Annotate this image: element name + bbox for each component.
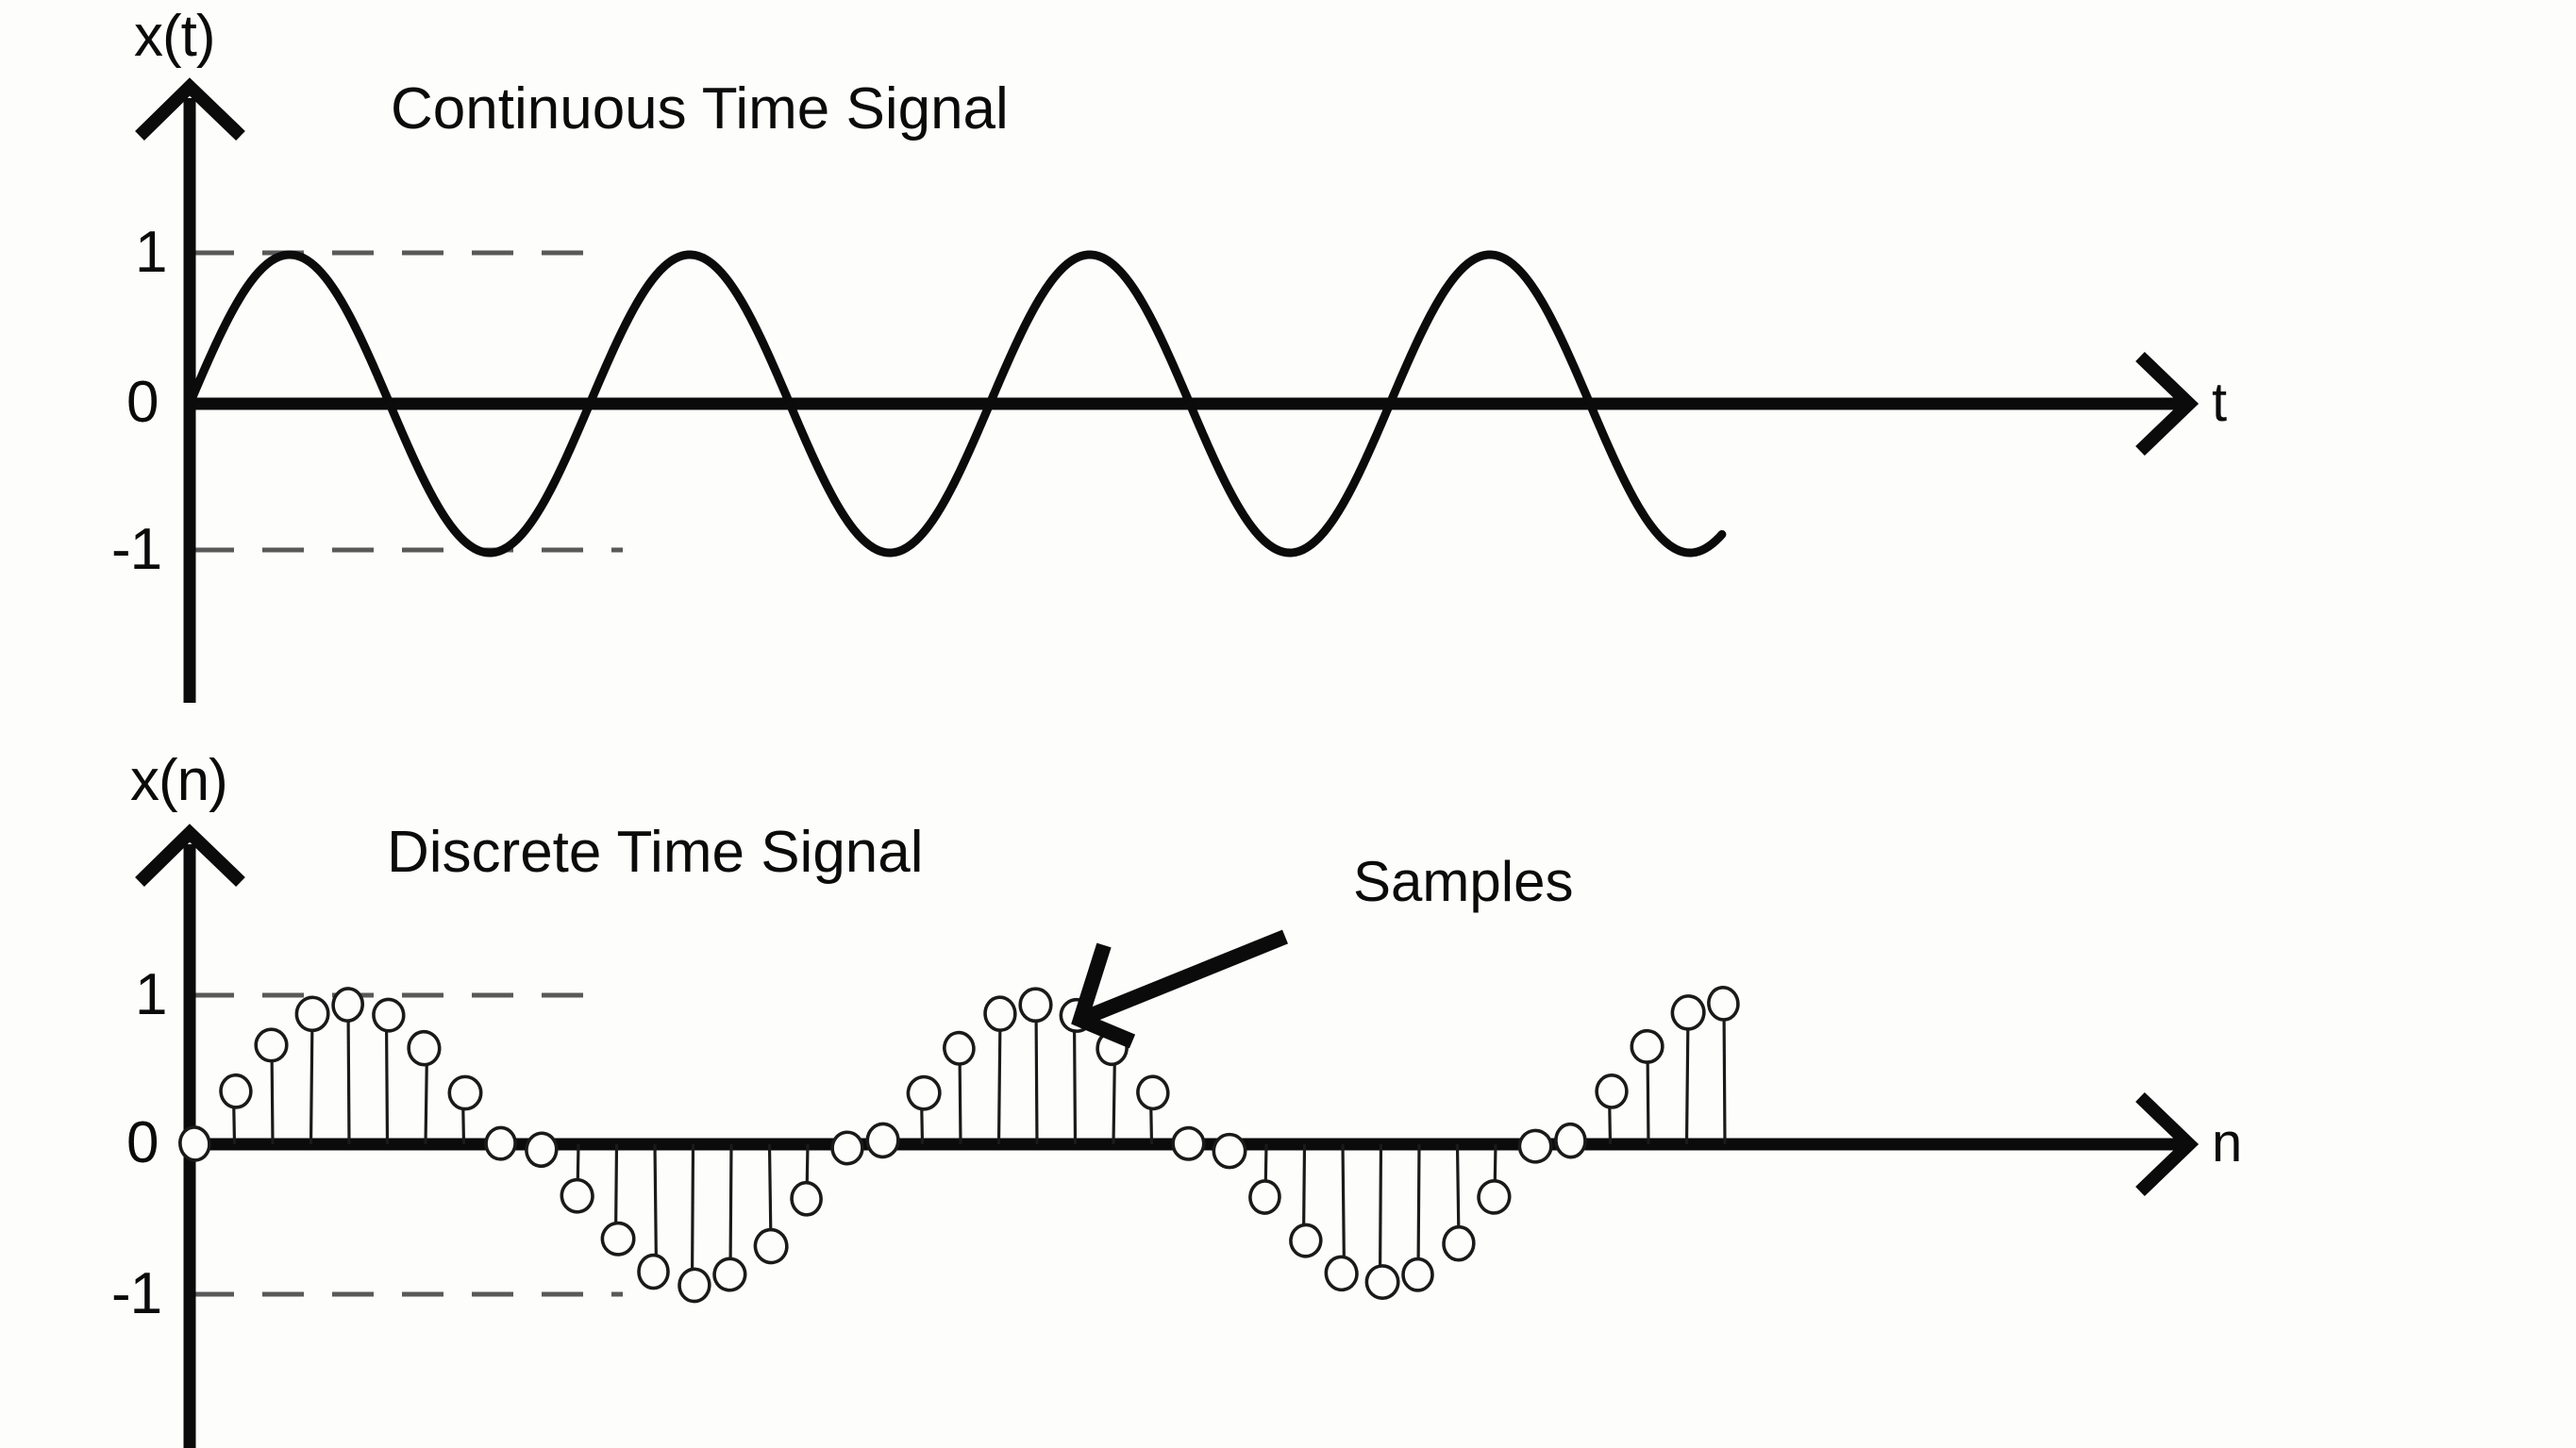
sample-stem bbox=[331, 987, 364, 1144]
sample-stem bbox=[1670, 994, 1706, 1144]
continuous-ytick-minus1: -1 bbox=[111, 521, 161, 579]
continuous-panel bbox=[140, 87, 2189, 703]
sample-marker-icon bbox=[712, 1257, 747, 1292]
continuous-ytick-plus1: 1 bbox=[135, 224, 166, 282]
sample-stem bbox=[984, 996, 1016, 1144]
sample-stem bbox=[560, 1144, 594, 1214]
sample-stem bbox=[1289, 1144, 1323, 1258]
sample-marker-icon bbox=[943, 1031, 976, 1066]
sample-stem-line bbox=[348, 1006, 349, 1144]
sample-stem bbox=[832, 1132, 862, 1163]
sample-stem-line bbox=[1075, 1016, 1076, 1144]
sample-marker-icon bbox=[866, 1123, 899, 1157]
sample-marker-icon bbox=[1443, 1226, 1475, 1261]
sample-stem bbox=[1213, 1135, 1245, 1168]
sample-marker-icon bbox=[295, 996, 329, 1031]
sample-stem bbox=[791, 1144, 822, 1216]
sample-stem bbox=[1365, 1144, 1399, 1299]
continuous-x-axis-label: t bbox=[2212, 375, 2227, 430]
sample-marker-icon bbox=[1020, 989, 1051, 1021]
sample-marker-icon bbox=[525, 1131, 559, 1168]
discrete-ytick-plus1: 1 bbox=[135, 966, 166, 1024]
samples-annotation-label: Samples bbox=[1353, 854, 1573, 910]
sample-stem bbox=[256, 1029, 287, 1144]
sample-marker-icon bbox=[1517, 1128, 1553, 1164]
sample-marker-icon bbox=[1670, 994, 1706, 1031]
continuous-ytick-zero: 0 bbox=[126, 374, 158, 432]
sample-marker-icon bbox=[1403, 1259, 1432, 1290]
sample-stem-line bbox=[1380, 1144, 1381, 1281]
discrete-plot-title: Discrete Time Signal bbox=[387, 824, 924, 882]
sample-marker-icon bbox=[832, 1132, 862, 1163]
sample-marker-icon bbox=[1597, 1075, 1627, 1107]
sample-marker-icon bbox=[256, 1029, 287, 1060]
sample-stem bbox=[485, 1126, 516, 1159]
sample-stem bbox=[678, 1144, 711, 1303]
sample-stem-line bbox=[1418, 1144, 1419, 1273]
sample-marker-icon bbox=[1707, 986, 1740, 1022]
sample-stem-line bbox=[1036, 1006, 1037, 1144]
sample-stem bbox=[1517, 1128, 1553, 1164]
sample-stem-line bbox=[1724, 1005, 1725, 1144]
sample-stem bbox=[372, 997, 406, 1144]
sample-stem-line bbox=[311, 1015, 313, 1144]
sample-stem-line bbox=[1343, 1144, 1345, 1273]
discrete-y-axis-label: x(n) bbox=[130, 752, 227, 810]
sample-stem bbox=[1555, 1123, 1586, 1158]
sample-stem-line bbox=[693, 1144, 694, 1284]
diagram-svg bbox=[0, 0, 2576, 1448]
figure-canvas: x(t) Continuous Time Signal 1 0 -1 t x(n… bbox=[0, 0, 2576, 1448]
sample-marker-icon bbox=[1365, 1265, 1399, 1299]
sample-marker-icon bbox=[1213, 1135, 1245, 1168]
sample-stem bbox=[1631, 1030, 1664, 1144]
sample-marker-icon bbox=[408, 1031, 441, 1066]
sample-stem bbox=[943, 1031, 976, 1144]
sample-stem bbox=[525, 1131, 559, 1168]
discrete-ytick-minus1: -1 bbox=[111, 1265, 161, 1323]
sample-marker-icon bbox=[906, 1074, 942, 1111]
sample-marker-icon bbox=[1555, 1123, 1586, 1158]
sample-marker-icon bbox=[485, 1126, 516, 1159]
sample-marker-icon bbox=[1631, 1030, 1664, 1064]
sample-stem bbox=[220, 1074, 252, 1144]
sample-stem bbox=[1707, 986, 1740, 1144]
sample-stem-line bbox=[1687, 1013, 1689, 1144]
sample-stem bbox=[639, 1144, 668, 1289]
sample-marker-icon bbox=[753, 1227, 789, 1264]
sample-stem-line bbox=[999, 1015, 1001, 1144]
sample-stem bbox=[601, 1144, 635, 1256]
discrete-x-axis-label: n bbox=[2212, 1116, 2242, 1171]
sample-stem bbox=[1020, 989, 1051, 1144]
sample-stem bbox=[906, 1074, 942, 1144]
sample-stem bbox=[1443, 1144, 1475, 1261]
discrete-ytick-zero: 0 bbox=[126, 1114, 158, 1173]
sample-marker-icon bbox=[791, 1182, 822, 1216]
sample-stem bbox=[1597, 1075, 1627, 1144]
sample-stem bbox=[712, 1144, 747, 1292]
discrete-panel bbox=[140, 833, 2189, 1448]
sample-marker-icon bbox=[1324, 1255, 1359, 1291]
sample-stem bbox=[1477, 1144, 1512, 1215]
sample-stem bbox=[178, 1125, 212, 1162]
sample-marker-icon bbox=[560, 1178, 594, 1214]
sample-stem-line bbox=[655, 1144, 657, 1271]
sample-marker-icon bbox=[220, 1074, 252, 1108]
continuous-y-axis-label: x(t) bbox=[134, 8, 215, 66]
sample-marker-icon bbox=[984, 996, 1016, 1031]
sample-marker-icon bbox=[449, 1076, 480, 1108]
sample-marker-icon bbox=[178, 1125, 212, 1162]
sample-marker-icon bbox=[1289, 1223, 1323, 1258]
sample-stem bbox=[1172, 1127, 1205, 1161]
sample-stem-line bbox=[730, 1144, 731, 1273]
sample-stem bbox=[295, 996, 329, 1144]
sample-marker-icon bbox=[331, 987, 364, 1023]
sample-stem-line bbox=[387, 1016, 388, 1144]
sample-stem bbox=[408, 1031, 441, 1144]
sample-marker-icon bbox=[1136, 1074, 1170, 1110]
sample-stem bbox=[1249, 1144, 1280, 1214]
sample-stem bbox=[1096, 1029, 1129, 1144]
sample-stem bbox=[1403, 1144, 1432, 1290]
sample-stem bbox=[1324, 1144, 1359, 1291]
sample-stem bbox=[866, 1123, 899, 1157]
sample-marker-icon bbox=[639, 1256, 668, 1289]
sample-stem bbox=[1136, 1074, 1170, 1144]
sample-marker-icon bbox=[1172, 1127, 1205, 1161]
sample-stem bbox=[449, 1076, 480, 1144]
sample-marker-icon bbox=[678, 1268, 711, 1302]
samples-annotation-arrow-icon bbox=[1080, 937, 1285, 1041]
sample-marker-icon bbox=[372, 997, 406, 1033]
sample-stem bbox=[753, 1144, 789, 1265]
sample-marker-icon bbox=[1477, 1179, 1512, 1215]
continuous-plot-title: Continuous Time Signal bbox=[391, 80, 1009, 139]
sample-marker-icon bbox=[601, 1222, 635, 1256]
sample-marker-icon bbox=[1249, 1180, 1280, 1214]
